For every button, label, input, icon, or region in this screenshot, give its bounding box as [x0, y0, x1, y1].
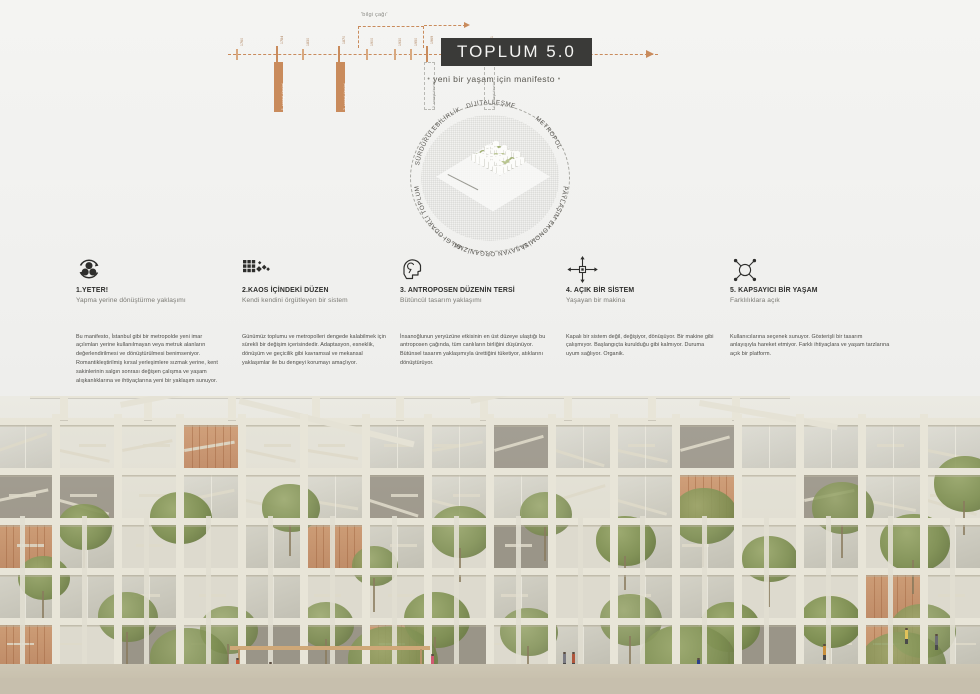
- structure-beam: [362, 414, 370, 670]
- render-tree: [520, 492, 572, 536]
- render-element: [264, 444, 291, 446]
- render-element: [318, 444, 345, 446]
- render-element: [335, 475, 336, 518]
- structure-beam: [796, 414, 804, 670]
- timeline-era-bar-label: 1. sanayi devrimi: [281, 83, 285, 110]
- timeline-era-bracket-line: [424, 25, 466, 26]
- building-bay: [742, 475, 796, 518]
- render-element: [192, 425, 193, 468]
- render-element: [13, 625, 14, 664]
- manifesto-body: Günümüz toplumu ve metropolleri dengede …: [242, 333, 392, 369]
- structure-beam: [20, 516, 25, 668]
- timeline-year-label: 1950: [414, 38, 418, 46]
- render-element: [136, 544, 163, 546]
- manifesto-column-4: 4. AÇIK BİR SİSTEM Yaşayan bir makina Ka…: [566, 256, 716, 359]
- render-element: [645, 475, 646, 518]
- render-element: [230, 646, 430, 650]
- render-element: [881, 575, 882, 618]
- isometric-massing-model: [434, 138, 552, 220]
- render-element: [199, 594, 226, 596]
- manifesto-body: Kapalı bir sistem değil, değişiyor, dönü…: [566, 333, 716, 360]
- render-element: [314, 594, 341, 596]
- timeline-end-arrow: [646, 50, 654, 58]
- timeline-year-label: 1870: [342, 36, 346, 44]
- manifesto-column-3: 3. ANTROPOSEN DÜZENİN TERSİ Bütüncül tas…: [400, 256, 550, 368]
- manifesto-subheading: Farklılıklara açık: [730, 297, 890, 304]
- architectural-section-render: [0, 396, 980, 694]
- render-element: [70, 494, 97, 496]
- timeline-year-label: 1784: [280, 36, 284, 44]
- structure-beam: [424, 414, 432, 670]
- grid-scatter-icon: [242, 256, 392, 282]
- manifesto-body: Kullanıcılarına seçenek sunuyor. Gösteri…: [730, 333, 890, 360]
- manifesto-column-5: 5. KAPSAYICI BİR YAŞAM Farklılıklara açı…: [730, 256, 890, 359]
- structure-beam: [60, 396, 68, 420]
- structure-beam: [648, 396, 656, 420]
- render-element: [955, 525, 956, 568]
- timeline-year-label: 1760: [240, 38, 244, 46]
- structure-beam: [640, 516, 645, 668]
- render-element: [207, 425, 208, 468]
- structure-beam: [672, 414, 680, 670]
- molecule-node-icon: [730, 256, 890, 282]
- poster-subtitle-row: • yeni bir yaşam için manifesto •: [404, 74, 584, 84]
- poster-top-sheet: 'bilgi çağı' 176017841830187019001930195…: [0, 0, 980, 400]
- concept-circle-diagram: DİJİTALLEŞME METROPOL SÜRDÜRÜLEBİLİRLİK …: [402, 104, 580, 252]
- three-circles-cycle-icon: [76, 256, 226, 282]
- render-element: [273, 525, 274, 568]
- render-plaza: [0, 678, 980, 694]
- structure-beam: [516, 516, 521, 668]
- timeline-era-label: 'bilgi çağı': [361, 12, 388, 18]
- render-person: [823, 644, 826, 660]
- render-element: [373, 578, 375, 612]
- timeline-year-label: 1830: [306, 38, 310, 46]
- render-element: [893, 425, 894, 468]
- render-element: [459, 425, 460, 468]
- structure-beam: [858, 414, 866, 670]
- timeline-tick: [394, 49, 396, 60]
- structure-beam: [548, 414, 556, 670]
- timeline-tick: [410, 49, 412, 60]
- render-element: [199, 425, 200, 468]
- poster-subtitle: yeni bir yaşam için manifesto: [433, 74, 555, 84]
- structure-beam: [454, 516, 459, 668]
- timeline-era-arrow: [464, 22, 470, 28]
- render-element: [289, 522, 291, 556]
- manifesto-column-1: 1.YETER! Yapma yerine dönüştürme yaklaşı…: [76, 256, 226, 386]
- structure-beam: [82, 516, 87, 668]
- manifesto-subheading: Bütüncül tasarım yaklaşımı: [400, 297, 550, 304]
- poster-title-block: TOPLUM 5.0: [441, 38, 592, 66]
- render-element: [397, 425, 398, 468]
- render-person: [935, 634, 938, 650]
- manifesto-heading: 5. KAPSAYICI BİR YAŞAM: [730, 287, 890, 294]
- head-spiral-icon: [400, 256, 550, 282]
- render-element: [79, 444, 106, 446]
- structure-beam: [144, 516, 149, 668]
- render-element: [628, 444, 655, 446]
- structure-beam: [826, 516, 831, 668]
- render-element: [87, 575, 88, 618]
- timeline-tick: [338, 46, 340, 62]
- bullet-left-icon: •: [427, 76, 430, 83]
- structure-beam: [764, 516, 769, 668]
- render-element: [339, 525, 340, 568]
- manifesto-column-2: 2.KAOS İÇİNDEKİ DÜZEN Kendi kendini örgü…: [242, 256, 392, 368]
- render-element: [25, 425, 26, 468]
- structure-beam: [888, 516, 893, 668]
- structure-beam: [734, 414, 742, 670]
- render-tree: [18, 556, 70, 600]
- timeline-tick: [426, 46, 428, 62]
- timeline-year-label: 1969: [430, 36, 434, 44]
- render-element: [583, 425, 584, 468]
- structure-beam: [920, 414, 928, 670]
- render-element: [6, 525, 7, 568]
- manifesto-heading: 1.YETER!: [76, 287, 226, 294]
- structure-beam: [486, 414, 494, 670]
- manifesto-heading: 2.KAOS İÇİNDEKİ DÜZEN: [242, 287, 392, 294]
- poster-title: TOPLUM 5.0: [457, 43, 576, 60]
- render-element: [583, 625, 584, 664]
- render-element: [453, 494, 480, 496]
- structure-beam: [228, 396, 236, 420]
- render-element: [874, 575, 875, 618]
- timeline-tick: [236, 49, 238, 60]
- ring-label-3: YAŞAYAN ORGANİZMA: [452, 240, 529, 257]
- render-element: [501, 594, 528, 596]
- render-element: [769, 425, 770, 468]
- render-element: [877, 444, 904, 446]
- render-element: [126, 632, 128, 666]
- structure-beam: [52, 414, 60, 670]
- render-element: [13, 525, 14, 568]
- render-tree: [430, 506, 492, 558]
- render-element: [391, 494, 418, 496]
- structure-beam: [702, 516, 707, 668]
- render-element: [347, 525, 348, 568]
- timeline-tick: [302, 49, 304, 60]
- structure-beam: [564, 396, 572, 420]
- structure-beam: [176, 414, 184, 670]
- timeline-year-label: 1930: [398, 38, 402, 46]
- structure-beam: [396, 396, 404, 420]
- structure-beam: [238, 414, 246, 670]
- structure-beam: [578, 516, 583, 668]
- render-element: [316, 525, 317, 568]
- render-element: [215, 425, 216, 468]
- render-element: [893, 475, 894, 518]
- render-person: [905, 628, 908, 644]
- manifesto-subheading: Kendi kendini örgütleyen bir sistem: [242, 297, 392, 304]
- render-element: [831, 425, 832, 468]
- render-element: [29, 625, 30, 664]
- timeline-year-label: 1900: [370, 38, 374, 46]
- structure-beam: [114, 414, 122, 670]
- crosshair-expand-icon: [566, 256, 716, 282]
- manifesto-body: İnsanoğlunun yeryüzüne etkisinin en üst …: [400, 333, 550, 369]
- manifesto-heading: 3. ANTROPOSEN DÜZENİN TERSİ: [400, 287, 550, 294]
- structure-beam: [300, 414, 308, 670]
- render-element: [323, 525, 324, 568]
- render-element: [37, 625, 38, 664]
- manifesto-subheading: Yapma yerine dönüştürme yaklaşımı: [76, 297, 226, 304]
- structure-beam: [206, 516, 211, 668]
- manifesto-subheading: Yaşayan bir makina: [566, 297, 716, 304]
- render-element: [544, 527, 546, 561]
- render-element: [841, 524, 843, 558]
- render-element: [912, 560, 914, 594]
- render-element: [223, 425, 224, 468]
- timeline-era-bar-label: 2. sanayi devrimi: [343, 83, 347, 110]
- structure-beam: [950, 516, 955, 668]
- render-tree: [98, 592, 158, 642]
- render-element: [645, 425, 646, 468]
- manifesto-heading: 4. AÇIK BİR SİSTEM: [566, 287, 716, 294]
- manifesto-body: Bu manifesto, İstanbul gibi bir metropol…: [76, 333, 226, 386]
- bullet-right-icon: •: [558, 76, 561, 83]
- render-element: [44, 625, 45, 664]
- timeline-tick: [366, 49, 368, 60]
- render-element: [273, 575, 274, 618]
- render-element: [230, 425, 231, 468]
- structure-beam: [610, 414, 618, 670]
- timeline-tick: [276, 46, 278, 62]
- render-element: [6, 625, 7, 664]
